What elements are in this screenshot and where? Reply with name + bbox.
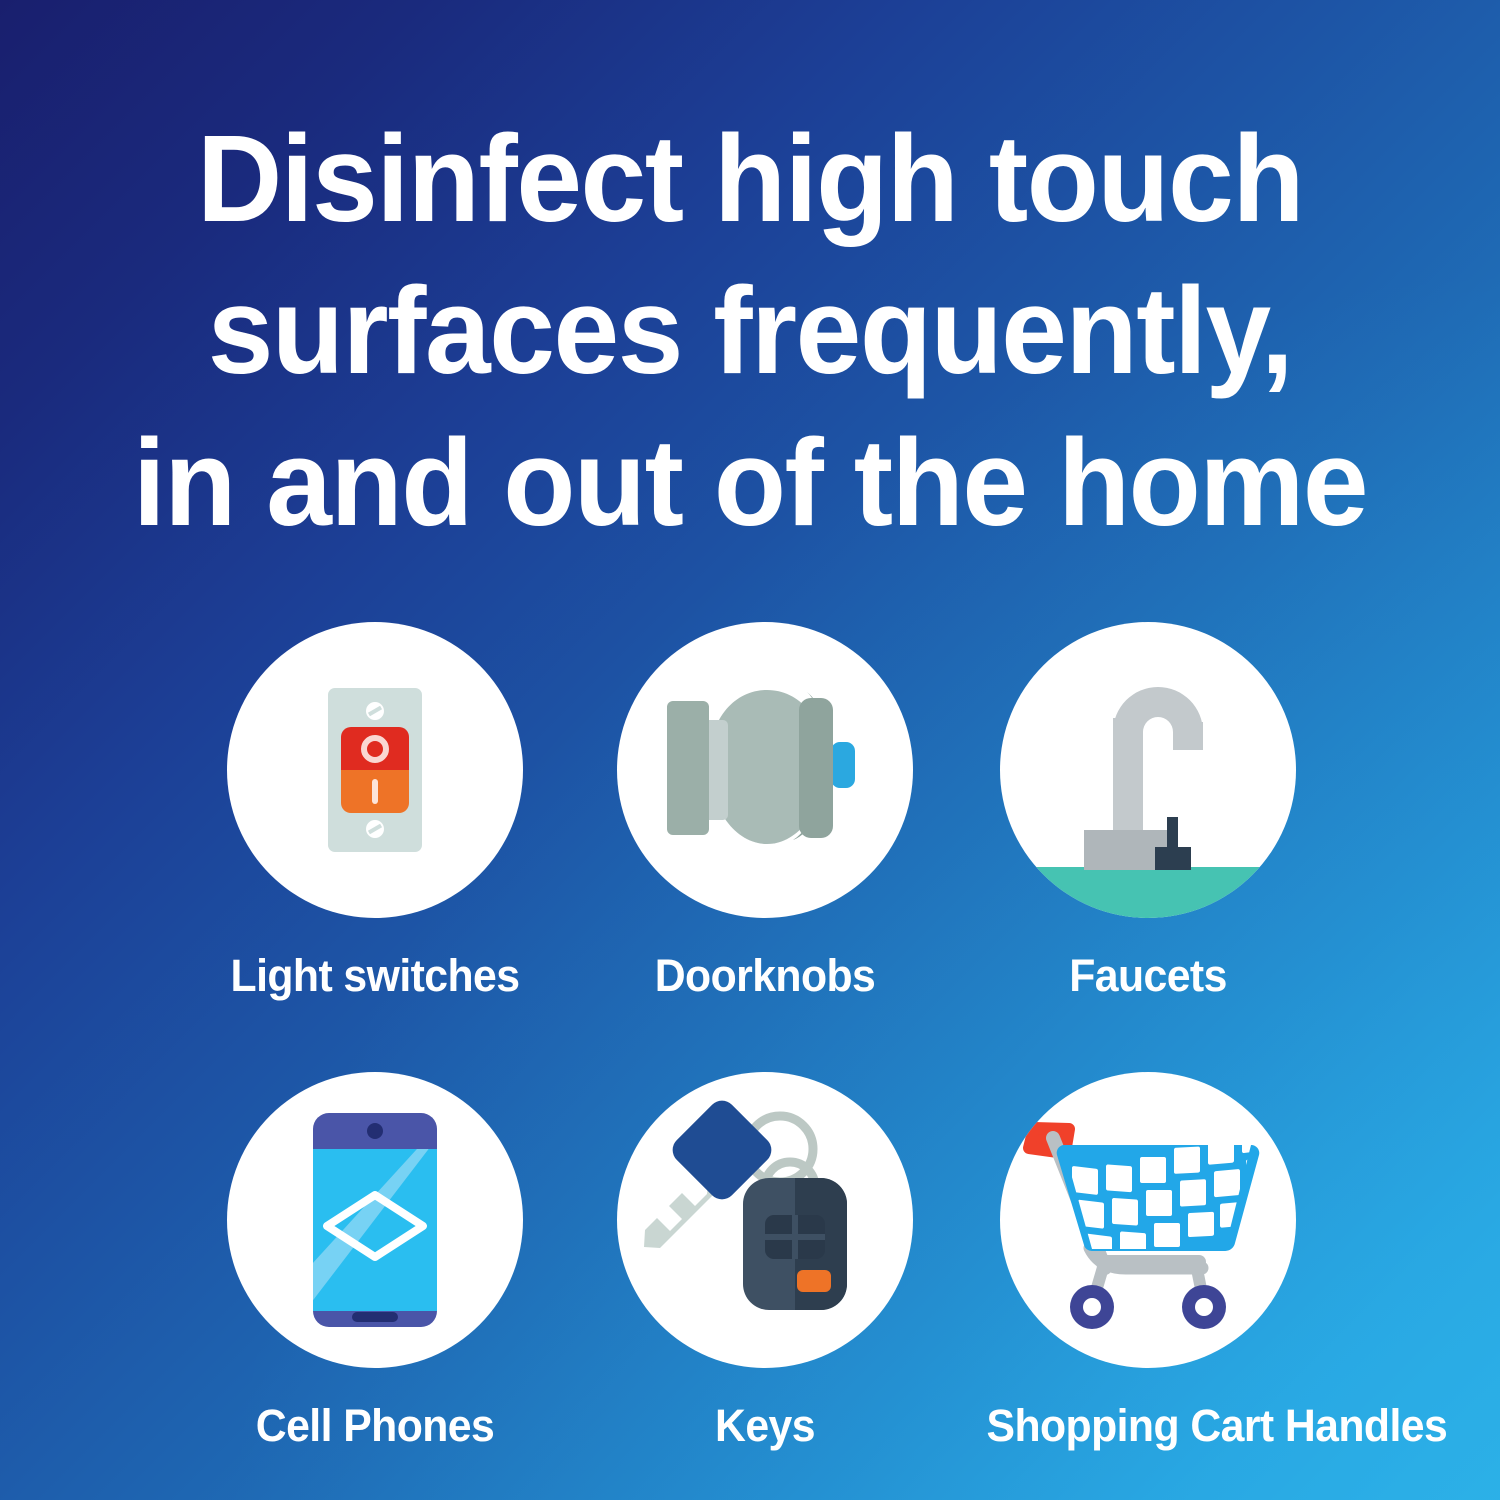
- keys-icon: [617, 1072, 913, 1368]
- doorknob-icon: [617, 622, 913, 918]
- icon-disc-cell-phones: [227, 1072, 523, 1368]
- icon-disc-keys: [617, 1072, 913, 1368]
- grid-item-keys: Keys: [595, 1050, 935, 1452]
- page-title: Disinfect high touch surfaces frequently…: [30, 104, 1470, 560]
- caption-shopping-cart-handles: Shopping Cart Handles: [987, 1400, 1310, 1452]
- grid-item-shopping-cart-handles: Shopping Cart Handles: [978, 1050, 1318, 1452]
- grid-item-cell-phones: Cell Phones: [205, 1050, 545, 1452]
- caption-cell-phones: Cell Phones: [214, 1400, 537, 1452]
- grid-item-faucets: Faucets: [978, 600, 1318, 1002]
- icon-disc-shopping-cart-handles: [1000, 1072, 1296, 1368]
- icon-disc-doorknobs: [617, 622, 913, 918]
- caption-keys: Keys: [604, 1400, 927, 1452]
- icon-row-1: Light switches: [0, 600, 1500, 1050]
- caption-faucets: Faucets: [987, 950, 1310, 1002]
- icon-disc-faucets: [1000, 622, 1296, 918]
- headline-line-2: surfaces frequently,: [88, 256, 1413, 408]
- caption-doorknobs: Doorknobs: [604, 950, 927, 1002]
- grid-item-doorknobs: Doorknobs: [595, 600, 935, 1002]
- headline-line-1: Disinfect high touch: [88, 104, 1413, 256]
- caption-light-switches: Light switches: [214, 950, 537, 1002]
- faucet-icon: [1000, 622, 1296, 918]
- icon-disc-light-switches: [227, 622, 523, 918]
- cell-phone-icon: [227, 1072, 523, 1368]
- poster-canvas: Disinfect high touch surfaces frequently…: [0, 0, 1500, 1500]
- icon-row-2: Cell Phones: [0, 1050, 1500, 1500]
- grid-item-light-switches: Light switches: [205, 600, 545, 1002]
- light-switch-icon: [227, 622, 523, 918]
- headline-line-3: in and out of the home: [88, 408, 1413, 560]
- icon-grid: Light switches: [0, 600, 1500, 1500]
- shopping-cart-icon: [1000, 1072, 1296, 1368]
